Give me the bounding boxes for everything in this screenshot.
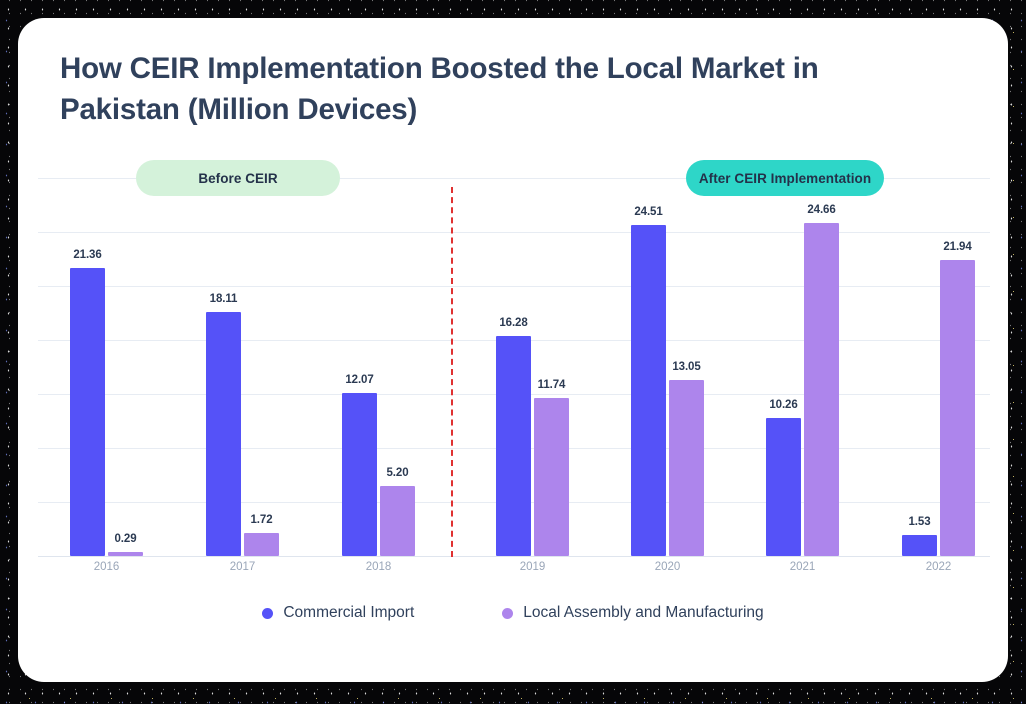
legend-dot-icon [502, 608, 513, 619]
badge-after-ceir: After CEIR Implementation [686, 160, 884, 196]
bar-rect [940, 260, 975, 556]
legend-dot-icon [262, 608, 273, 619]
badge-before-ceir-label: Before CEIR [198, 171, 277, 186]
bar-value-label: 10.26 [769, 399, 797, 411]
bar-rect [631, 225, 666, 556]
bar-value-label: 13.05 [672, 361, 700, 373]
bar-rect [669, 380, 704, 556]
bar-value-label: 21.94 [943, 241, 971, 253]
legend-label: Local Assembly and Manufacturing [523, 604, 763, 622]
bar-value-label: 0.29 [115, 533, 137, 545]
x-axis-label-2018: 2018 [342, 561, 415, 573]
axis-baseline [38, 556, 990, 557]
bar-rect [70, 268, 105, 556]
legend-item-1[interactable]: Commercial Import [262, 604, 414, 622]
bar-rect [244, 533, 279, 556]
chart-card: How CEIR Implementation Boosted the Loca… [18, 18, 1008, 682]
x-axis-label-2016: 2016 [70, 561, 143, 573]
bar-rect [380, 486, 415, 556]
x-axis-label-2021: 2021 [766, 561, 839, 573]
bar-value-label: 24.51 [634, 206, 662, 218]
bar-value-label: 12.07 [345, 374, 373, 386]
bar-value-label: 11.74 [538, 379, 566, 391]
bar-rect [534, 398, 569, 556]
bar-rect [902, 535, 937, 556]
bar-value-label: 1.53 [909, 516, 931, 528]
badge-after-ceir-label: After CEIR Implementation [699, 171, 871, 186]
bar-value-label: 18.11 [210, 293, 238, 305]
bar-value-label: 16.28 [499, 317, 527, 329]
bar-value-label: 5.20 [387, 467, 409, 479]
bar-rect [342, 393, 377, 556]
chart-plot-area: Before CEIR After CEIR Implementation 21… [18, 18, 1008, 682]
legend-label: Commercial Import [283, 604, 414, 622]
bar-value-label: 1.72 [251, 514, 273, 526]
x-axis-label-2017: 2017 [206, 561, 279, 573]
legend-item-2[interactable]: Local Assembly and Manufacturing [502, 604, 763, 622]
gridline [38, 232, 990, 233]
bar-rect [206, 312, 241, 556]
bar-value-label: 21.36 [73, 249, 101, 261]
chart-legend: Commercial ImportLocal Assembly and Manu… [18, 604, 1008, 622]
badge-before-ceir: Before CEIR [136, 160, 340, 196]
ceir-divider-line [451, 187, 453, 557]
x-axis-label-2020: 2020 [631, 561, 704, 573]
gridline [38, 286, 990, 287]
x-axis-label-2019: 2019 [496, 561, 569, 573]
bar-rect [108, 552, 143, 556]
bar-rect [766, 418, 801, 557]
bar-rect [804, 223, 839, 556]
bar-value-label: 24.66 [807, 204, 835, 216]
bar-rect [496, 336, 531, 556]
x-axis-label-2022: 2022 [902, 561, 975, 573]
